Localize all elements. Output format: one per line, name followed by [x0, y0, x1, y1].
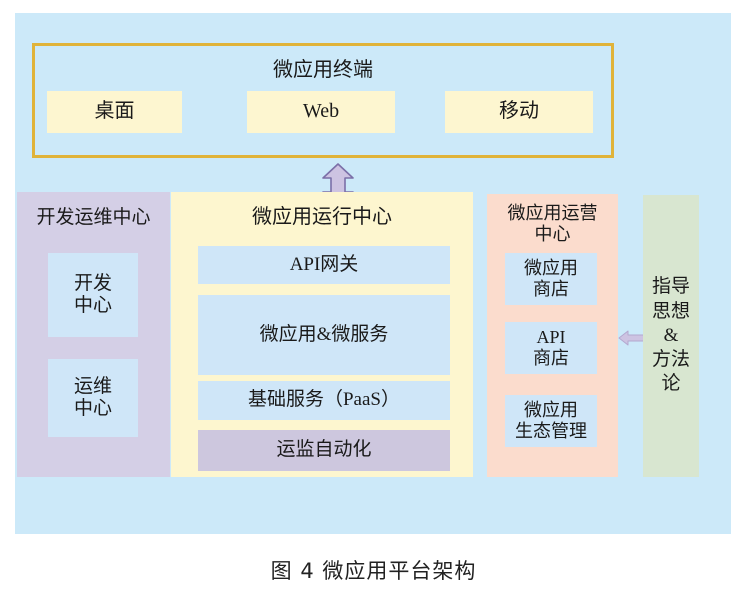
operations-chip-api-store[interactable]: API 商店 [505, 322, 597, 374]
runtime-center-title: 微应用运行中心 [171, 198, 473, 238]
figure-caption: 图 4 微应用平台架构 [0, 555, 747, 585]
methodology-panel: 指导 思想 & 方法 论 [643, 195, 699, 477]
terminal-chip-mobile[interactable]: 移动 [445, 91, 593, 133]
terminal-chip-desktop[interactable]: 桌面 [47, 91, 182, 133]
operations-chip-ecosystem-management[interactable]: 微应用 生态管理 [505, 395, 597, 447]
runtime-chip-microapp-microservice[interactable]: 微应用&微服务 [198, 295, 450, 375]
operations-chip-microapp-store[interactable]: 微应用 商店 [505, 253, 597, 305]
terminal-chip-web[interactable]: Web [247, 91, 395, 133]
operations-center-title: 微应用运营 中心 [487, 199, 618, 249]
left-pointing-arrow-icon [618, 330, 646, 346]
runtime-chip-api-gateway[interactable]: API网关 [198, 246, 450, 284]
devops-chip-operations-center[interactable]: 运维 中心 [48, 359, 138, 437]
runtime-chip-ops-monitor-automation[interactable]: 运监自动化 [198, 430, 450, 471]
devops-center-title: 开发运维中心 [17, 198, 170, 238]
runtime-chip-basic-service-paas[interactable]: 基础服务（PaaS） [198, 381, 450, 420]
terminal-group-title: 微应用终端 [32, 50, 614, 92]
devops-chip-development-center[interactable]: 开发 中心 [48, 253, 138, 337]
